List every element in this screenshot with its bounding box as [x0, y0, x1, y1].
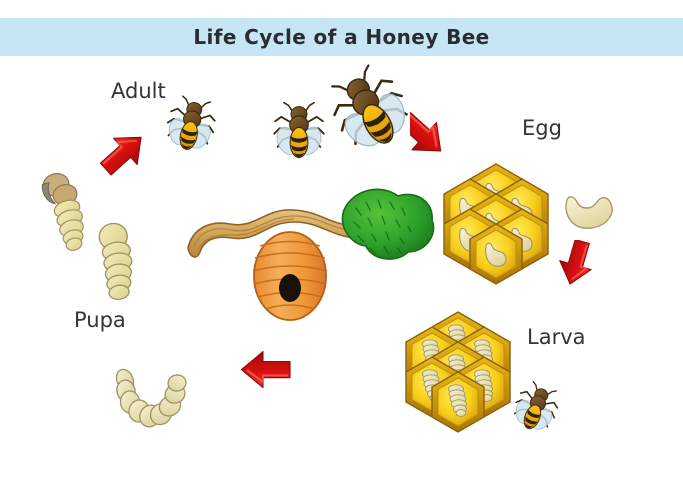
honeycomb-with-larvae: [392, 310, 524, 440]
tree-foliage: [342, 189, 433, 259]
beehive: [253, 232, 327, 320]
tree-branch-with-hive: [186, 190, 436, 320]
adult-bee-large-right: [333, 67, 407, 153]
arrow-larva-to-pupa: [222, 346, 296, 394]
stage-label-larva: Larva: [527, 325, 586, 349]
page-title: Life Cycle of a Honey Bee: [193, 25, 489, 49]
arrow-pupa-to-adult: [88, 122, 164, 186]
single-egg: [561, 188, 619, 234]
title-bar: Life Cycle of a Honey Bee: [0, 18, 683, 56]
arrow-adult-to-egg: [410, 98, 492, 168]
larva-stage-bee: [514, 382, 558, 434]
pupa-early: [90, 220, 148, 306]
adult-bee-middle: [272, 100, 326, 162]
curled-larva: [110, 360, 196, 432]
stage-label-adult: Adult: [111, 79, 166, 103]
stage-label-egg: Egg: [522, 116, 562, 140]
adult-bee-small-left: [166, 96, 216, 154]
stage-label-pupa: Pupa: [74, 308, 126, 332]
honeycomb-with-eggs: [430, 162, 562, 292]
arrow-egg-to-larva: [544, 240, 614, 316]
life-cycle-poster: Life Cycle of a Honey Bee Adult Egg Larv…: [0, 0, 683, 482]
